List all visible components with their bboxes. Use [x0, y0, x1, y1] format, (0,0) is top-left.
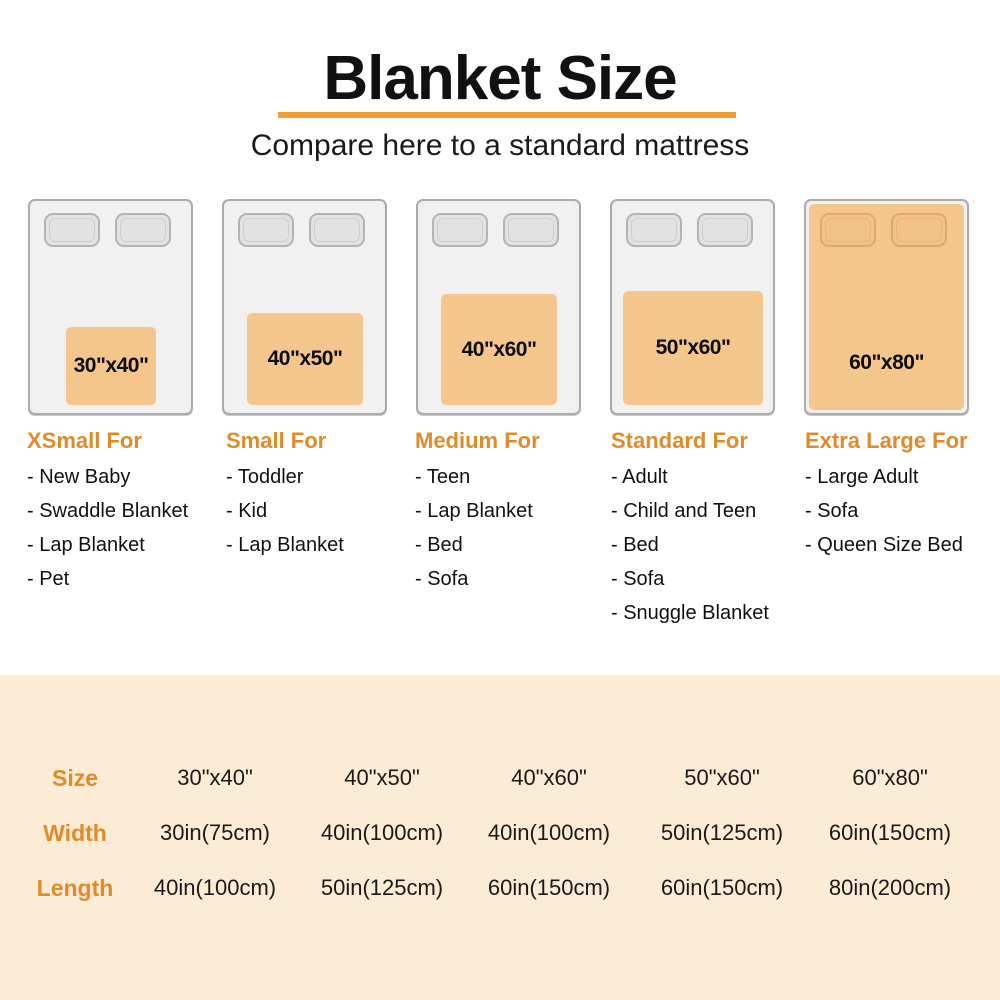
- category-list-item: - Sofa: [415, 569, 540, 589]
- mattress-frame: 30"x40": [28, 199, 193, 415]
- spec-cell: 30in(75cm): [125, 820, 305, 846]
- category-heading: Extra Large For: [805, 428, 968, 454]
- blanket-size-label: 30"x40": [66, 354, 156, 378]
- category-list-item: - New Baby: [27, 467, 188, 487]
- category-list-item: - Sofa: [805, 501, 968, 521]
- blanket-overlay: 50"x60": [623, 291, 763, 405]
- blanket-overlay: 30"x40": [66, 327, 156, 405]
- mattress-frame: 50"x60": [610, 199, 775, 415]
- spec-cell: 80in(200cm): [800, 875, 980, 901]
- mattress-frame: 60"x80": [804, 199, 969, 415]
- spec-cell: 30"x40": [125, 765, 305, 791]
- mattress-frame: 40"x60": [416, 199, 581, 415]
- category-list-item: - Child and Teen: [611, 501, 769, 521]
- pillow-icon: [309, 213, 365, 247]
- spec-row-size: Size 30"x40" 40"x50" 40"x60" 50"x60" 60"…: [0, 765, 1000, 795]
- category-heading: Small For: [226, 428, 344, 454]
- category-column-small: Small For - Toddler - Kid - Lap Blanket: [226, 428, 344, 569]
- category-list-item: - Swaddle Blanket: [27, 501, 188, 521]
- blanket-size-label: 50"x60": [623, 336, 763, 360]
- bed-diagram-small: 40"x50": [222, 199, 387, 415]
- category-column-extra-large: Extra Large For - Large Adult - Sofa - Q…: [805, 428, 968, 569]
- category-heading: XSmall For: [27, 428, 188, 454]
- category-list-item: - Large Adult: [805, 467, 968, 487]
- category-column-medium: Medium For - Teen - Lap Blanket - Bed - …: [415, 428, 540, 603]
- spec-cell: 50in(125cm): [632, 820, 812, 846]
- spec-cell: 50in(125cm): [292, 875, 472, 901]
- spec-cell: 40in(100cm): [292, 820, 472, 846]
- category-column-standard: Standard For - Adult - Child and Teen - …: [611, 428, 769, 637]
- pillow-icon: [432, 213, 488, 247]
- blanket-overlay: 40"x60": [441, 294, 557, 405]
- spec-cell: 60in(150cm): [632, 875, 812, 901]
- pillow-icon: [626, 213, 682, 247]
- category-list-item: - Queen Size Bed: [805, 535, 968, 555]
- header: Blanket Size Compare here to a standard …: [0, 0, 1000, 185]
- pillow-icon: [697, 213, 753, 247]
- spec-cell: 60"x80": [800, 765, 980, 791]
- category-list-item: - Kid: [226, 501, 344, 521]
- blanket-overlay: 40"x50": [247, 313, 363, 405]
- page-subtitle: Compare here to a standard mattress: [0, 128, 1000, 164]
- title-underline-rule: [278, 112, 736, 118]
- pillow-icon: [115, 213, 171, 247]
- spec-row-width: Width 30in(75cm) 40in(100cm) 40in(100cm)…: [0, 820, 1000, 850]
- category-list-item: - Lap Blanket: [415, 501, 540, 521]
- category-list-item: - Toddler: [226, 467, 344, 487]
- spec-cell: 40in(100cm): [125, 875, 305, 901]
- spec-cell: 60in(150cm): [459, 875, 639, 901]
- bed-diagram-extra-large: 60"x80": [804, 199, 969, 415]
- blanket-size-label: 40"x50": [247, 347, 363, 371]
- blanket-size-label: 40"x60": [441, 338, 557, 362]
- spec-cell: 50"x60": [632, 765, 812, 791]
- category-heading: Standard For: [611, 428, 769, 454]
- category-list-item: - Sofa: [611, 569, 769, 589]
- category-list-item: - Adult: [611, 467, 769, 487]
- pillow-icon: [238, 213, 294, 247]
- category-columns: XSmall For - New Baby - Swaddle Blanket …: [0, 428, 1000, 648]
- bed-diagram-standard: 50"x60": [610, 199, 775, 415]
- spec-cell: 40in(100cm): [459, 820, 639, 846]
- bed-diagram-medium: 40"x60": [416, 199, 581, 415]
- blanket-size-label: 60"x80": [806, 351, 967, 375]
- category-list-item: - Bed: [415, 535, 540, 555]
- spec-table-panel: Size 30"x40" 40"x50" 40"x60" 50"x60" 60"…: [0, 675, 1000, 1000]
- blanket-overlay: 60"x80": [806, 201, 967, 413]
- spec-cell: 40"x60": [459, 765, 639, 791]
- category-column-xsmall: XSmall For - New Baby - Swaddle Blanket …: [27, 428, 188, 603]
- bed-diagram-xsmall: 30"x40": [28, 199, 193, 415]
- category-heading: Medium For: [415, 428, 540, 454]
- pillow-icon: [44, 213, 100, 247]
- category-list-item: - Teen: [415, 467, 540, 487]
- category-list-item: - Lap Blanket: [27, 535, 188, 555]
- mattress-frame: 40"x50": [222, 199, 387, 415]
- spec-cell: 40"x50": [292, 765, 472, 791]
- category-list-item: - Lap Blanket: [226, 535, 344, 555]
- bed-diagram-row: 30"x40" 40"x50" 40"x60": [0, 199, 1000, 415]
- spec-cell: 60in(150cm): [800, 820, 980, 846]
- spec-row-length: Length 40in(100cm) 50in(125cm) 60in(150c…: [0, 875, 1000, 905]
- category-list-item: - Bed: [611, 535, 769, 555]
- page-title: Blanket Size: [0, 48, 1000, 110]
- category-list-item: - Snuggle Blanket: [611, 603, 769, 623]
- category-list-item: - Pet: [27, 569, 188, 589]
- pillow-icon: [503, 213, 559, 247]
